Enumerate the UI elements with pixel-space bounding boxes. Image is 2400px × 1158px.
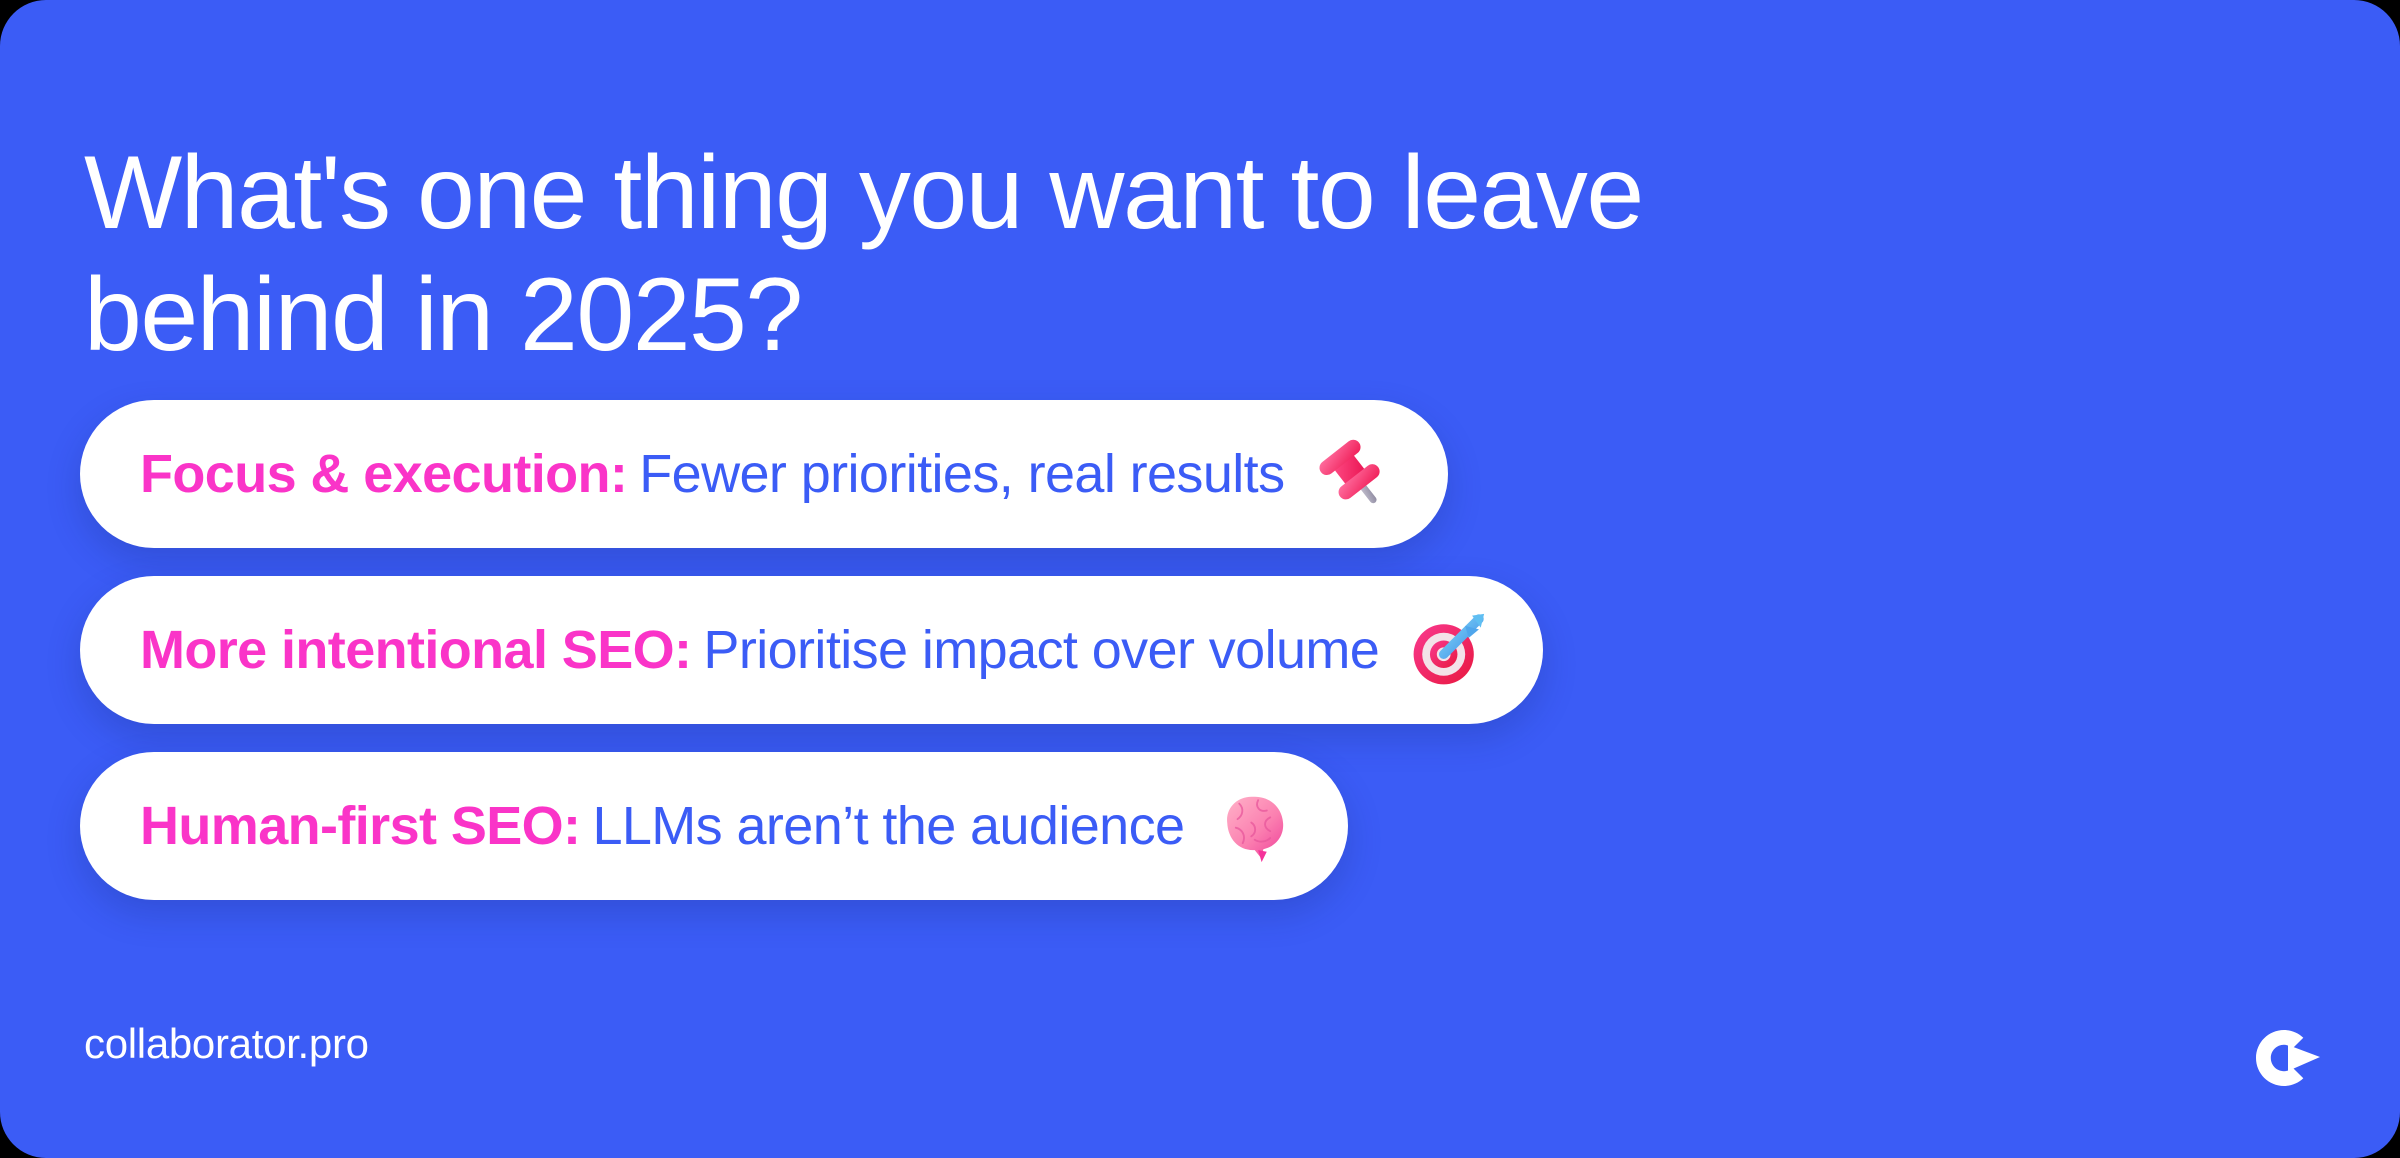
collaborator-logo (2248, 1026, 2322, 1088)
answer-card[interactable]: Focus & execution: Fewer priorities, rea… (80, 400, 1448, 548)
page-title: What's one thing you want to leave behin… (84, 132, 1964, 377)
answer-card[interactable]: More intentional SEO: Prioritise impact … (80, 576, 1543, 724)
answer-card-body: LLMs aren’t the audience (592, 799, 1184, 853)
answer-card-label: Focus & execution: (140, 447, 627, 501)
slide-canvas: What's one thing you want to leave behin… (0, 0, 2400, 1158)
footer-website-url[interactable]: collaborator.pro (84, 1020, 369, 1068)
answer-card-body: Prioritise impact over volume (703, 623, 1379, 677)
answer-card[interactable]: Human-first SEO: LLMs aren’t the audienc… (80, 752, 1348, 900)
answer-card-body: Fewer priorities, real results (639, 447, 1284, 501)
answer-card-label: More intentional SEO: (140, 623, 691, 677)
pushpin-emoji (1310, 431, 1396, 517)
answer-card-list: Focus & execution: Fewer priorities, rea… (80, 400, 1543, 900)
direct-hit-target-emoji (1405, 607, 1491, 693)
answer-card-label: Human-first SEO: (140, 799, 580, 853)
brain-emoji (1210, 783, 1296, 869)
